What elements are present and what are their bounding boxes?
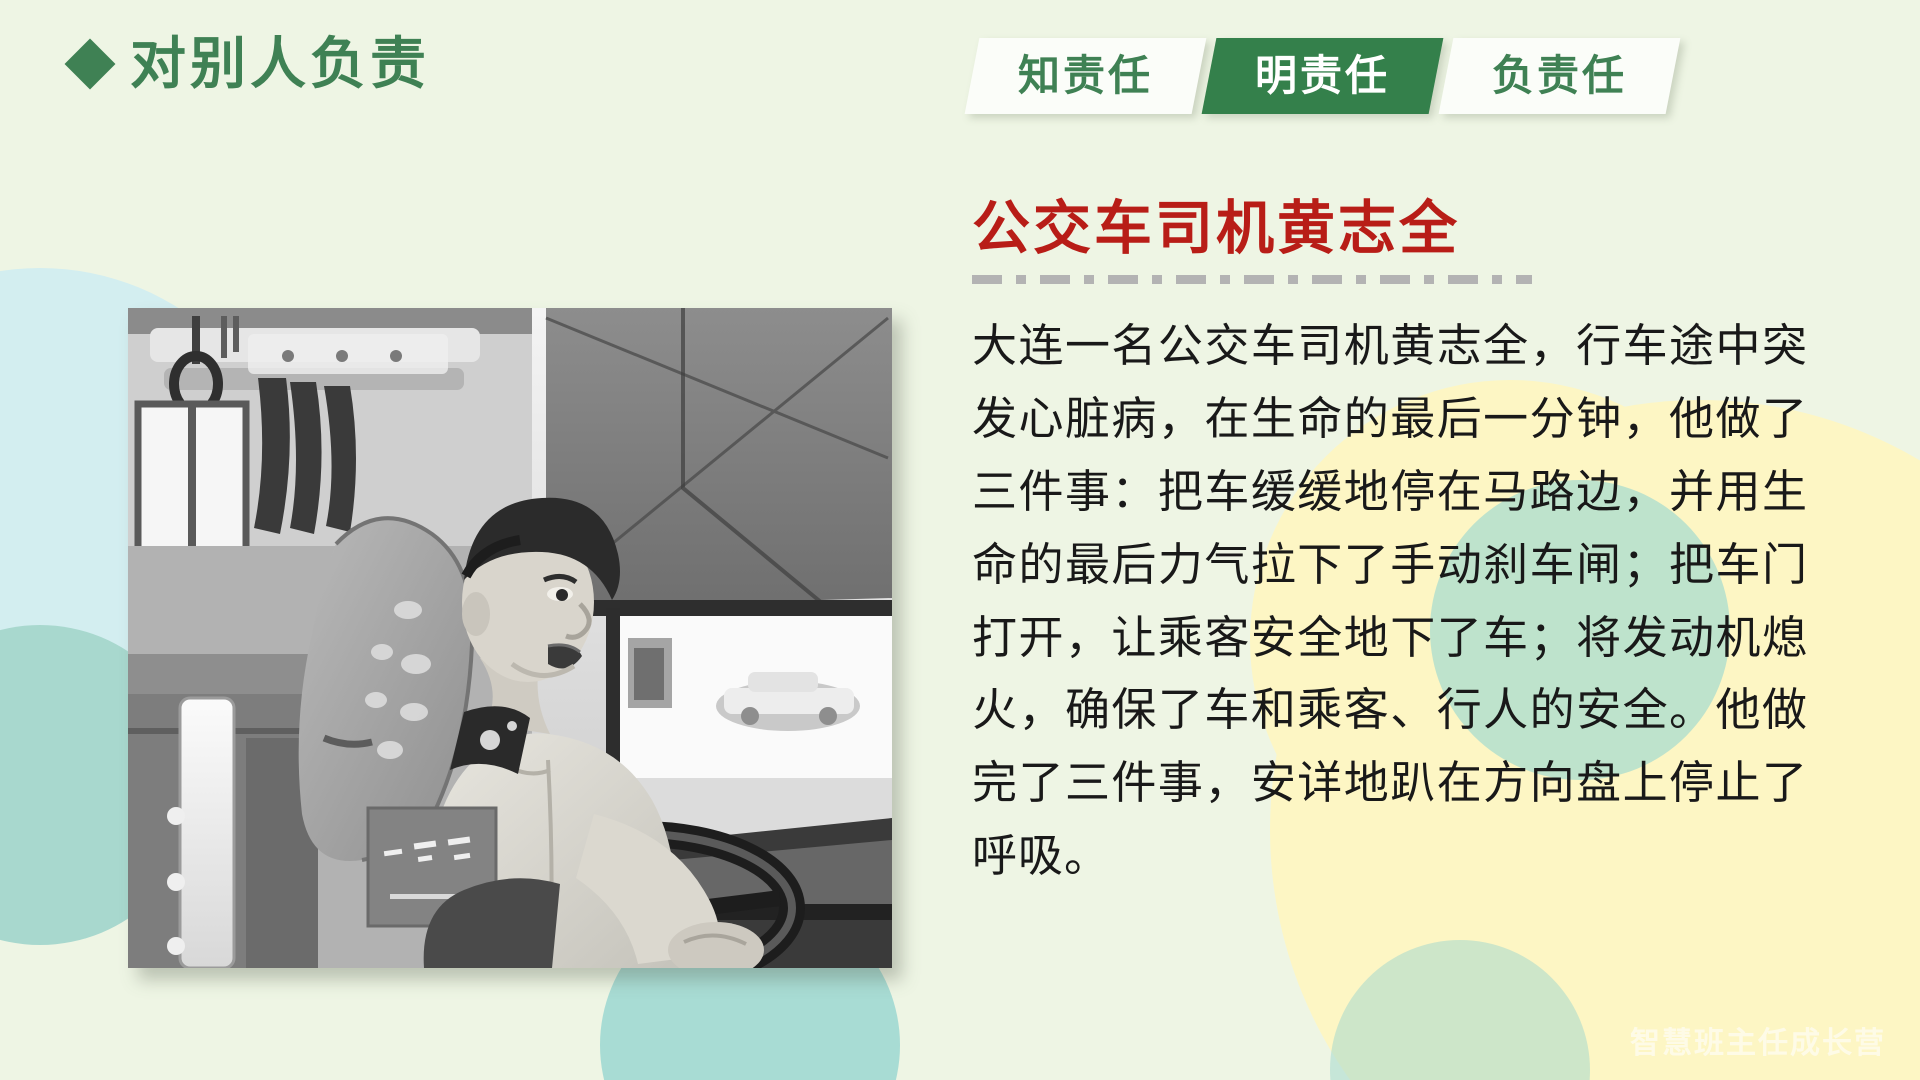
page-title: 对别人负责 — [72, 36, 430, 92]
watermark-label: 智慧班主任成长营 — [1630, 1018, 1886, 1062]
tab-zhi-zeren[interactable]: 知责任 — [965, 38, 1207, 114]
tab-label: 明责任 — [1255, 55, 1390, 97]
tab-ming-zeren[interactable]: 明责任 — [1202, 38, 1444, 114]
page-title-label: 对别人负责 — [130, 36, 430, 92]
tab-label: 知责任 — [1018, 55, 1153, 97]
bus-driver-photo — [128, 308, 892, 968]
story-body-text: 大连一名公交车司机黄志全，行车途中突发心脏病，在生命的最后一分钟，他做了三件事：… — [972, 310, 1808, 893]
tab-label: 负责任 — [1492, 55, 1627, 97]
tab-bar: 知责任 明责任 负责任 — [972, 38, 1673, 114]
story-heading: 公交车司机黄志全 — [972, 196, 1808, 261]
diamond-icon — [65, 39, 116, 90]
heading-divider — [972, 275, 1532, 284]
story-panel: 公交车司机黄志全 大连一名公交车司机黄志全，行车途中突发心脏病，在生命的最后一分… — [972, 196, 1808, 893]
slide-canvas: 对别人负责 知责任 明责任 负责任 — [0, 0, 1920, 1080]
decor-circle-teal-right-lower — [1330, 940, 1590, 1080]
photo-illustration — [128, 308, 892, 968]
tab-fu-zeren[interactable]: 负责任 — [1439, 38, 1681, 114]
